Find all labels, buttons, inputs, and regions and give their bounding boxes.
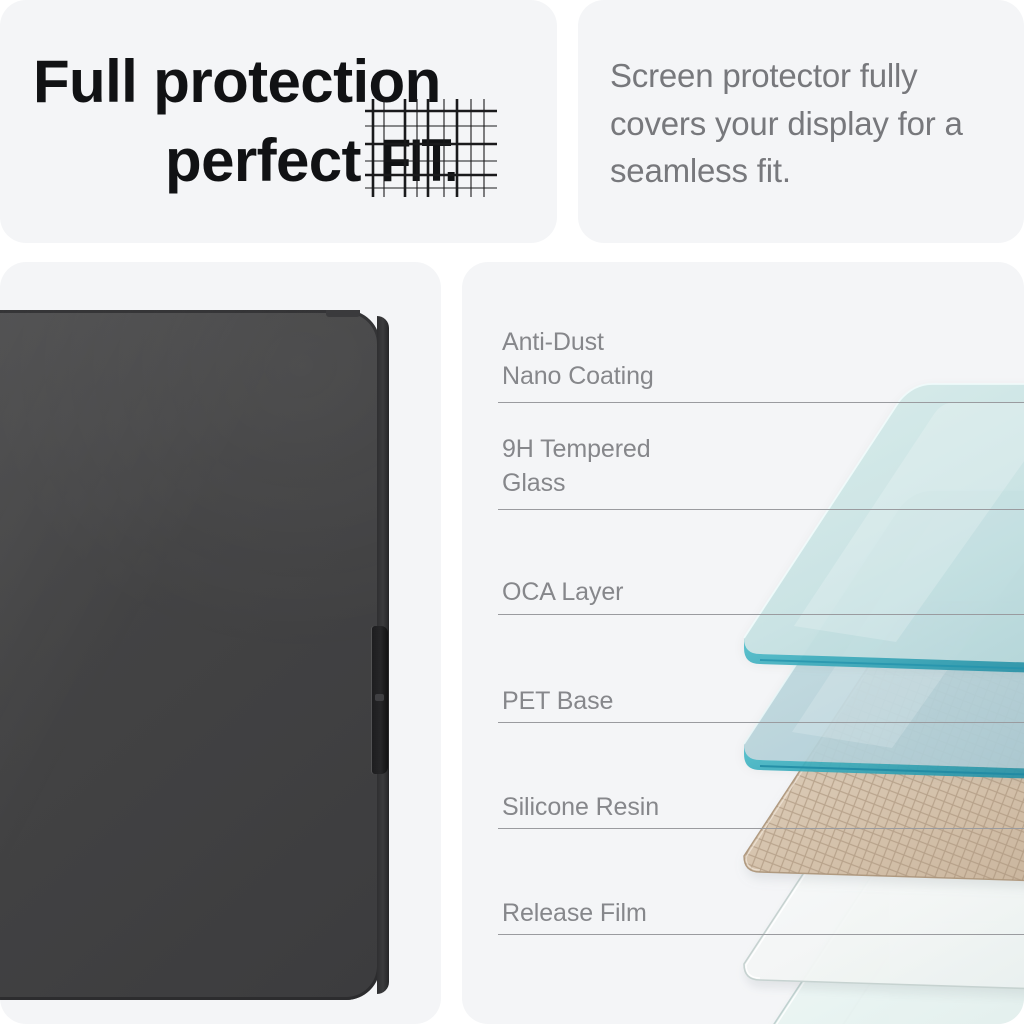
device-panel	[0, 262, 441, 1024]
callout-release-film: Release Film	[500, 896, 647, 930]
tablet-screen	[0, 310, 380, 1000]
callout-rule-anti-dust	[498, 402, 1024, 403]
headline-text: Full protection perfect FIT.	[33, 42, 533, 200]
headline-panel: Full protection perfect FIT.	[0, 0, 557, 243]
fit-accent: FIT.	[377, 121, 477, 200]
callout-oca-layer: OCA Layer	[500, 575, 623, 609]
subtext-panel: Screen protector fully covers your displ…	[578, 0, 1024, 243]
headline-line-2: perfect FIT.	[33, 121, 533, 200]
callout-silicone-resin: Silicone Resin	[500, 790, 659, 824]
subtext-body: Screen protector fully covers your displ…	[610, 52, 1010, 195]
callout-anti-dust-nano-coating: Anti-Dust Nano Coating	[500, 325, 654, 393]
callout-label: Anti-Dust Nano Coating	[500, 325, 654, 393]
headline-line-1: Full protection	[33, 42, 533, 121]
callout-rule-pet-base	[498, 722, 1024, 723]
callout-label: 9H Tempered Glass	[500, 432, 651, 500]
layer-stack-panel: Anti-Dust Nano Coating 9H Tempered Glass…	[462, 262, 1024, 1024]
product-infographic: Full protection perfect FIT.	[0, 0, 1024, 1024]
callout-pet-base: PET Base	[500, 684, 613, 718]
callout-label: Release Film	[500, 896, 647, 930]
callout-label: Silicone Resin	[500, 790, 659, 824]
tablet-device-illustration	[0, 310, 410, 1000]
fit-word: FIT.	[381, 121, 456, 200]
callout-9h-tempered-glass: 9H Tempered Glass	[500, 432, 651, 500]
callout-label: PET Base	[500, 684, 613, 718]
callout-rule-oca	[498, 614, 1024, 615]
callout-rule-tempered-glass	[498, 509, 1024, 510]
callout-rule-silicone-resin	[498, 828, 1024, 829]
callout-label: OCA Layer	[500, 575, 623, 609]
layer-plate-nano-coating	[744, 384, 1024, 680]
tablet-top-antenna-band	[326, 310, 360, 317]
tablet-side-notch	[375, 694, 384, 701]
callout-rule-release-film	[498, 934, 1024, 935]
headline-line-2-prefix: perfect	[165, 127, 377, 194]
